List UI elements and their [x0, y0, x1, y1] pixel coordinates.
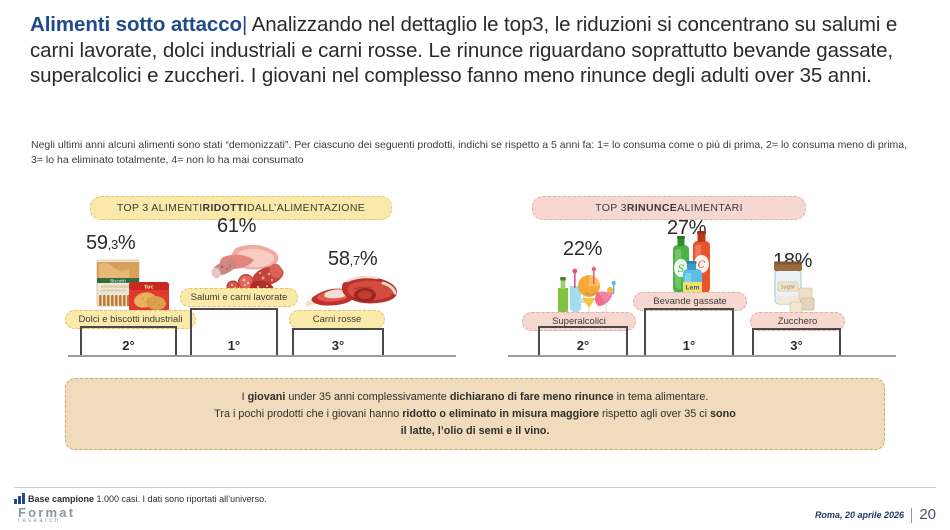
- panel-right-title-pre: TOP 3: [595, 202, 627, 214]
- pct-dolci-sym: %: [118, 232, 135, 254]
- svg-text:Lem: Lem: [685, 285, 699, 292]
- rank-label-2-right: 2°: [540, 338, 626, 353]
- pill-carni-rosse[interactable]: Carni rosse: [289, 310, 385, 329]
- pill-salumi-e-carni-lavorate[interactable]: Salumi e carni lavorate: [180, 288, 298, 307]
- slide-root: Alimenti sotto attacco| Analizzando nel …: [0, 0, 950, 530]
- panel-left-title-bold: RIDOTTI: [203, 202, 247, 214]
- pct-dolci-dec: ,3: [108, 237, 118, 252]
- panel-left-title-post: DALL’ALIMENTAZIONE: [247, 202, 365, 214]
- panel-left-title-pre: TOP 3 ALIMENTI: [117, 202, 203, 214]
- rank-label-3-right: 3°: [754, 338, 839, 353]
- base-campione-value: 1.000 casi. I dati sono riportati all’un…: [94, 494, 267, 504]
- rank-label-1-left: 1°: [192, 338, 276, 353]
- panel-alimenti-ridotti: TOP 3 ALIMENTI RIDOTTI DALL’ALIMENTAZION…: [60, 190, 460, 365]
- panel-right-title-bold: RINUNCE: [627, 202, 677, 214]
- panel-rinunce: TOP 3 RINUNCE ALIMENTARI 22% 27% 18%: [500, 190, 900, 365]
- page-number: 20: [919, 506, 936, 523]
- panel-right-title-post: ALIMENTARI: [677, 202, 743, 214]
- format-logo-icon: [14, 492, 26, 504]
- dateline: Roma, 20 aprile 2026: [815, 510, 904, 520]
- pct-super-int: 22: [563, 238, 585, 260]
- pct-dolci-int: 59: [86, 232, 108, 254]
- svg-text:tuc: tuc: [145, 285, 154, 291]
- pct-carni-dec: ,7: [350, 253, 360, 268]
- pct-salumi-sym: %: [239, 215, 256, 237]
- zucchero-artwork: sugar: [765, 258, 821, 316]
- base-campione-note: Base campione 1.000 casi. I dati sono ri…: [28, 494, 267, 504]
- pct-label-dolci: 59,3%: [86, 232, 135, 255]
- question-text: Negli ultimi anni alcuni alimenti sono s…: [31, 138, 911, 168]
- pct-salumi-int: 61: [217, 215, 239, 237]
- podium-ground-right: [508, 355, 896, 357]
- rank-label-1-right: 1°: [646, 338, 732, 353]
- podium-block-rank-2-left: 2°: [80, 326, 177, 356]
- svg-text:Biscotti: Biscotti: [110, 278, 126, 283]
- pct-label-superalcolici: 22%: [563, 238, 602, 261]
- pill-salumi-label: Salumi e carni lavorate: [191, 292, 288, 303]
- page-title: Alimenti sotto attacco| Analizzando nel …: [30, 12, 920, 89]
- podium-ground-left: [68, 355, 456, 357]
- headline-lead: Alimenti sotto attacco: [30, 13, 242, 36]
- callout-line-2: Tra i pochi prodotti che i giovani hanno…: [214, 408, 736, 420]
- podium-block-rank-3-left: 3°: [292, 328, 384, 356]
- rank-label-3-left: 3°: [294, 338, 382, 353]
- biscotti-artwork: Biscotti tuc: [93, 258, 173, 316]
- pill-bevande-label: Bevande gassate: [653, 296, 726, 307]
- pill-zucchero-label: Zucchero: [778, 316, 818, 327]
- podium-block-rank-1-right: 1°: [644, 308, 734, 356]
- svg-text:sugar: sugar: [781, 285, 796, 291]
- page-divider: [911, 508, 912, 523]
- base-campione-label: Base campione: [28, 494, 94, 504]
- pct-super-sym: %: [585, 238, 602, 260]
- pill-dolci-label: Dolci e biscotti industriali: [78, 314, 182, 325]
- podium-block-rank-1-left: 1°: [190, 308, 278, 356]
- callout-line-1: I giovani under 35 anni complessivamente…: [242, 391, 709, 403]
- rank-label-2-left: 2°: [82, 338, 175, 353]
- podium-block-rank-2-right: 2°: [538, 326, 628, 356]
- pct-label-salumi: 61%: [217, 215, 256, 238]
- format-research-wordmark: Format research: [18, 505, 75, 524]
- podium-block-rank-3-right: 3°: [752, 328, 841, 356]
- callout-line-3: il latte, l’olio di semi e il vino.: [401, 425, 550, 437]
- insight-callout: I giovani under 35 anni complessivamente…: [65, 378, 885, 450]
- pill-carni-label: Carni rosse: [313, 314, 362, 325]
- footer-divider: [14, 487, 936, 488]
